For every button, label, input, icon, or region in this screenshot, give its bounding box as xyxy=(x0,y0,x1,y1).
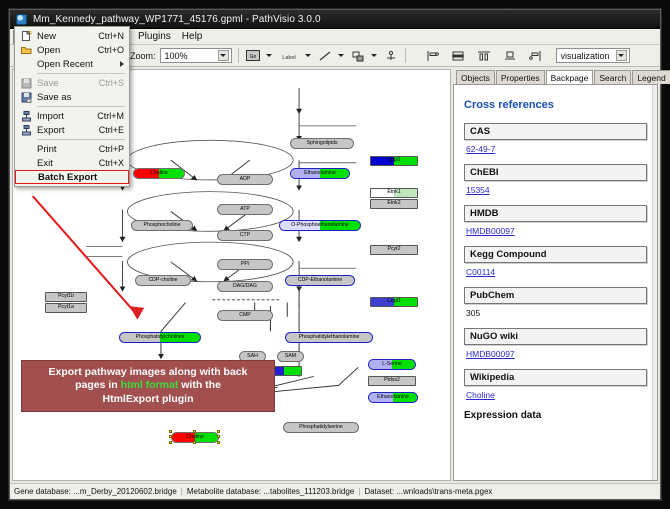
xref-value-pubchem: 305 xyxy=(466,308,647,318)
callout-line2-pre: pages in xyxy=(75,379,121,391)
status-gene-database: Gene database: ...m_Derby_20120602.bridg… xyxy=(14,487,177,496)
toolbar-separator xyxy=(238,48,239,63)
pathway-node-etnk2[interactable]: Etnk2 xyxy=(370,199,418,209)
node-label: CTP xyxy=(240,233,250,238)
submenu-arrow-icon xyxy=(120,61,124,67)
selection-handle[interactable] xyxy=(193,441,196,444)
menu-separator xyxy=(37,139,125,140)
xref-database-pubchem: PubChem xyxy=(464,287,647,304)
export-icon xyxy=(15,123,37,137)
selection-handle[interactable] xyxy=(169,430,172,433)
node-label: Sgpl1 xyxy=(387,158,400,163)
menu-separator xyxy=(37,106,125,107)
gene-tool-button[interactable]: Gn xyxy=(245,48,261,64)
status-dataset: Dataset: ...wnloads\trans-meta.pgex xyxy=(364,487,492,496)
pathway-node-phosphatidylcholines[interactable]: Phosphatidylcholines xyxy=(119,332,201,343)
align-left-icon[interactable] xyxy=(424,48,440,64)
pathway-node-ppi[interactable]: PPi xyxy=(217,259,273,270)
shape-tool-dropdown[interactable] xyxy=(370,49,379,63)
gene-tool-dropdown[interactable] xyxy=(265,49,274,63)
node-label: Cept1 xyxy=(387,299,401,304)
tab-backpage[interactable]: Backpage xyxy=(546,70,594,85)
pathway-node-cept1[interactable]: Cept1 xyxy=(370,297,418,307)
selection-handle[interactable] xyxy=(217,430,220,433)
save-as-icon xyxy=(15,90,37,104)
chevron-down-icon[interactable] xyxy=(218,50,229,61)
node-label: Choline xyxy=(150,171,168,176)
node-label: CDP-choline xyxy=(148,278,177,283)
pathway-node-sphingolipids[interactable]: Sphingolipids xyxy=(290,138,354,149)
toolbar-separator-2 xyxy=(405,48,406,63)
xref-database-chebi: ChEBI xyxy=(464,164,647,181)
pathway-node-atp[interactable]: ATP xyxy=(217,204,273,215)
menu-item-accelerator: Ctrl+N xyxy=(98,31,129,41)
zoom-combo[interactable]: 100% xyxy=(160,48,232,63)
selection-handle[interactable] xyxy=(169,441,172,444)
file-menu-item-import[interactable]: ImportCtrl+M xyxy=(15,109,129,123)
file-menu-item-print[interactable]: PrintCtrl+P xyxy=(15,142,129,156)
node-label: L-Serine xyxy=(382,362,402,367)
new-document-icon xyxy=(15,29,37,43)
pathway-node-phosphocholine[interactable]: Phosphocholine xyxy=(131,220,193,231)
node-label: DAG/DAG xyxy=(233,284,257,289)
xref-link[interactable]: 15354 xyxy=(466,185,490,195)
menu-icon-empty xyxy=(16,170,38,184)
node-label: Choline xyxy=(186,435,204,440)
align-distribute-icon[interactable] xyxy=(476,48,492,64)
cross-references-title: Cross references xyxy=(464,99,647,111)
node-label: O-Phosphoethanolamine xyxy=(291,223,348,228)
xref-database-hmdb: HMDB xyxy=(464,205,647,222)
menu-item-accelerator: Ctrl+E xyxy=(99,125,129,135)
xref-link[interactable]: HMDB00097 xyxy=(466,226,515,236)
file-menu-item-save-as[interactable]: Save as xyxy=(15,90,129,104)
status-bar: Gene database: ...m_Derby_20120602.bridg… xyxy=(10,483,660,499)
menu-item-label: Open Recent xyxy=(37,59,120,70)
save-disk-icon xyxy=(15,76,37,90)
xref-link[interactable]: 62-49-7 xyxy=(466,144,495,154)
file-menu-item-new[interactable]: NewCtrl+N xyxy=(15,29,129,43)
line-tool-dropdown[interactable] xyxy=(337,49,346,63)
selection-handle[interactable] xyxy=(217,441,220,444)
panel-scrollbar[interactable] xyxy=(652,85,657,480)
node-label: Etnk1 xyxy=(387,190,400,195)
pathway-node-ctp[interactable]: CTP xyxy=(217,230,273,241)
status-metabolite-database: Metabolite database: ...tabolites_111203… xyxy=(187,487,354,496)
menu-item-label: New xyxy=(37,31,98,42)
file-menu-item-batch-export[interactable]: Batch Export xyxy=(15,170,129,184)
xref-value-nugo-wiki[interactable]: HMDB00097 xyxy=(466,349,647,359)
menu-item-label: Exit xyxy=(37,158,99,169)
tab-properties[interactable]: Properties xyxy=(496,70,545,84)
node-fill-right xyxy=(284,367,301,375)
pathvisio-icon xyxy=(16,14,27,25)
node-label: Pcyt1b xyxy=(58,294,74,299)
anchor-icon[interactable] xyxy=(383,48,399,64)
status-divider-1: | xyxy=(181,487,183,496)
xref-database-nugo-wiki: NuGO wiki xyxy=(464,328,647,345)
pathway-node-l_serine[interactable]: L-Serine xyxy=(368,359,416,370)
node-label: Phosphatidylethanolamine xyxy=(299,335,360,340)
pathway-node-cmp[interactable]: CMP xyxy=(217,310,273,321)
node-label: ATP xyxy=(240,207,250,212)
menu-icon-empty xyxy=(15,142,37,156)
file-menu-item-exit[interactable]: ExitCtrl+X xyxy=(15,156,129,170)
node-label: Ethanolamine xyxy=(304,171,336,176)
pathway-node-o_phosphoethanolamine[interactable]: O-Phosphoethanolamine xyxy=(279,220,361,231)
cross-reference-list: CAS62-49-7ChEBI15354HMDBHMDB00097Kegg Co… xyxy=(464,123,647,400)
screenshot-root: Mm_Kennedy_pathway_WP1771_45176.gpml - P… xyxy=(0,0,670,509)
tab-search[interactable]: Search xyxy=(594,70,631,84)
file-menu-item-save: SaveCtrl+S xyxy=(15,76,129,90)
pathway-node-phosphatidylserine[interactable]: Phosphatidylserine xyxy=(283,422,359,433)
menu-item-accelerator: Ctrl+O xyxy=(98,45,129,55)
node-label: CDP-Ethanolamine xyxy=(298,278,342,283)
align-right-icon[interactable] xyxy=(528,48,544,64)
pathway-node-pcyt1b[interactable]: Pcyt1b xyxy=(45,292,87,302)
pathway-node-ethanolamine_top[interactable]: Ethanolamine xyxy=(290,168,350,179)
node-label: Sphingolipids xyxy=(307,141,338,146)
annotation-callout: Export pathway images along with back pa… xyxy=(21,360,275,412)
xref-link[interactable]: HMDB00097 xyxy=(466,349,515,359)
zoom-label: Zoom: xyxy=(130,51,156,61)
pathway-node-pcyt2[interactable]: Pcyt2 xyxy=(370,245,418,255)
tab-legend[interactable]: Legend xyxy=(632,70,670,84)
menu-item-label: Print xyxy=(37,144,99,155)
menu-plugins[interactable]: Plugins xyxy=(133,30,176,44)
menu-item-accelerator: Ctrl+S xyxy=(99,78,129,88)
side-panel: Objects Properties Backpage Search Legen… xyxy=(453,69,658,481)
line-icon[interactable] xyxy=(317,48,333,64)
pathway-node-pcyt1a[interactable]: Pcyt1a xyxy=(45,303,87,313)
import-icon xyxy=(15,109,37,123)
file-menu-item-export[interactable]: ExportCtrl+E xyxy=(15,123,129,137)
pathway-node-ptdss2[interactable]: Ptdss2 xyxy=(368,376,416,386)
pathway-node-sgpl1[interactable]: Sgpl1 xyxy=(370,156,418,166)
pathway-node-phosphatidylethanolamine[interactable]: Phosphatidylethanolamine xyxy=(285,332,373,343)
pathway-node-dag_dag[interactable]: DAG/DAG xyxy=(217,281,273,292)
xref-value-hmdb[interactable]: HMDB00097 xyxy=(466,226,647,236)
callout-line2-post: with the xyxy=(178,379,221,391)
menu-item-label: Batch Export xyxy=(38,172,123,183)
file-menu-item-open[interactable]: OpenCtrl+O xyxy=(15,43,129,57)
node-label: Pcyt1a xyxy=(58,305,74,310)
visualization-chevron-down-icon[interactable] xyxy=(616,50,627,61)
visualization-value: visualization xyxy=(561,51,610,61)
xref-value-cas[interactable]: 62-49-7 xyxy=(466,144,647,154)
xref-database-kegg-compound: Kegg Compound xyxy=(464,246,647,263)
menu-item-label: Save as xyxy=(37,92,124,103)
svg-text:Label: Label xyxy=(282,55,295,61)
node-label: Phosphatidylserine xyxy=(299,425,343,430)
menu-item-label: Save xyxy=(37,78,99,89)
xref-database-wikipedia: Wikipedia xyxy=(464,369,647,386)
node-label: Etnk2 xyxy=(387,201,400,206)
pathway-node-cdp_choline[interactable]: CDP-choline xyxy=(135,275,191,286)
svg-text:Gn: Gn xyxy=(249,54,256,60)
file-menu-dropdown[interactable]: NewCtrl+NOpenCtrl+OOpen RecentSaveCtrl+S… xyxy=(14,26,130,187)
node-label: Phosphocholine xyxy=(144,223,181,228)
xref-database-cas: CAS xyxy=(464,123,647,140)
pathway-node-cdp_ethanolamine[interactable]: CDP-Ethanolamine xyxy=(285,275,355,286)
backpage-panel: Cross references CAS62-49-7ChEBI15354HMD… xyxy=(453,84,658,481)
callout-line2-green: html format xyxy=(121,379,179,391)
menu-item-label: Import xyxy=(37,111,97,122)
node-label: Pcyt2 xyxy=(388,247,401,252)
label-tool-button[interactable]: Label xyxy=(278,48,300,64)
xref-value-wikipedia[interactable]: Choline xyxy=(466,390,647,400)
xref-value-kegg-compound[interactable]: C00114 xyxy=(466,267,647,277)
visualization-combo[interactable]: visualization xyxy=(556,48,630,63)
menu-item-label: Export xyxy=(37,125,99,136)
selection-handle[interactable] xyxy=(193,430,196,433)
pathway-node-sam[interactable]: SAM xyxy=(277,351,304,362)
pathway-node-choline_top[interactable]: Choline xyxy=(133,168,185,179)
window-title: Mm_Kennedy_pathway_WP1771_45176.gpml - P… xyxy=(33,14,321,25)
xref-link[interactable]: C00114 xyxy=(466,267,495,277)
xref-link[interactable]: Choline xyxy=(466,390,495,400)
menu-icon-empty xyxy=(15,156,37,170)
zoom-value: 100% xyxy=(165,51,188,61)
menu-item-accelerator: Ctrl+M xyxy=(97,111,129,121)
application-window: Mm_Kennedy_pathway_WP1771_45176.gpml - P… xyxy=(9,9,661,500)
pathway-node-etnk1[interactable]: Etnk1 xyxy=(370,188,418,198)
node-label: Ethanolamine xyxy=(377,395,409,400)
node-label: SAH xyxy=(247,354,258,359)
menu-item-accelerator: Ctrl+X xyxy=(99,158,129,168)
menu-separator xyxy=(37,73,125,74)
label-tool-dropdown[interactable] xyxy=(304,49,313,63)
callout-line3: HtmlExport plugin xyxy=(103,393,194,405)
status-divider-2: | xyxy=(358,487,360,496)
menu-item-label: Open xyxy=(37,45,98,56)
node-label: Phosphatidylcholines xyxy=(136,335,185,340)
tab-objects[interactable]: Objects xyxy=(456,70,495,84)
node-label: SAM xyxy=(285,354,296,359)
pathway-node-ethanolamine_bottom[interactable]: Ethanolamine xyxy=(368,392,418,403)
node-label: PPi xyxy=(241,262,249,267)
menu-icon-empty xyxy=(15,57,37,71)
open-folder-icon xyxy=(15,43,37,57)
pathway-node-adp[interactable]: ADP xyxy=(217,174,273,185)
node-label: CMP xyxy=(239,313,251,318)
callout-line1: Export pathway images along with back xyxy=(49,366,248,378)
menu-help[interactable]: Help xyxy=(177,30,208,44)
xref-value-chebi[interactable]: 15354 xyxy=(466,185,647,195)
file-menu-item-open-recent[interactable]: Open Recent xyxy=(15,57,129,71)
selection-handle[interactable] xyxy=(169,435,172,438)
menu-item-accelerator: Ctrl+P xyxy=(99,144,129,154)
align-bottom-icon[interactable] xyxy=(502,48,518,64)
side-panel-tabs: Objects Properties Backpage Search Legen… xyxy=(453,69,658,84)
node-label: ADP xyxy=(240,177,251,182)
node-label: Ptdss2 xyxy=(384,378,400,383)
selection-handle[interactable] xyxy=(217,435,220,438)
shape-icon[interactable] xyxy=(350,48,366,64)
expression-data-title: Expression data xyxy=(464,410,647,421)
align-stack-icon[interactable] xyxy=(450,48,466,64)
